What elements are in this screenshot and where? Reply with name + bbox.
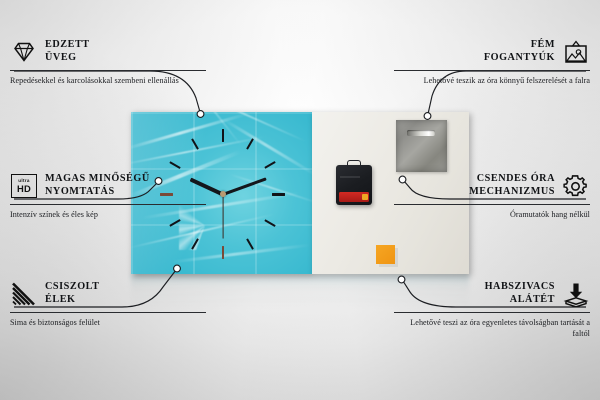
callout-header: ultra HD MAGAS MINŐSÉGŰ NYOMTATÁS (10, 172, 206, 200)
feather-streak (131, 112, 249, 151)
infographic-canvas: EDZETT ÜVEG Repedésekkel és karcolásokka… (0, 0, 600, 400)
callout-title: CSISZOLT ÉLEK (45, 281, 99, 307)
clock-marker (222, 246, 224, 259)
hanger-slot (407, 130, 435, 136)
gear-icon (562, 172, 590, 200)
callout-divider (10, 312, 206, 313)
callout-header: CSISZOLT ÉLEK (10, 280, 206, 308)
diagonal-stripes-icon (10, 280, 38, 308)
callout-divider (394, 204, 590, 205)
clock-marker (272, 193, 285, 196)
callout-description: Intenzív színek és éles kép (10, 209, 206, 220)
callout-title-line: ALÁTÉT (510, 294, 555, 305)
clock-marker (222, 129, 224, 142)
callout-title: CSENDES ÓRA MECHANIZMUS (469, 173, 555, 199)
callout-title-line: CSENDES ÓRA (477, 173, 555, 184)
clock-marker (264, 161, 275, 169)
callout-title-line: MECHANIZMUS (469, 186, 555, 197)
callout-foam-pad[interactable]: HABSZIVACS ALÁTÉT Lehetővé teszi az óra … (394, 280, 590, 340)
clock-marker (191, 238, 199, 249)
callout-title-line: FÉM (531, 39, 555, 50)
callout-metal-handles[interactable]: FÉM FOGANTYÚK Lehetővé teszik az óra kön… (394, 38, 590, 86)
feather-streak (222, 118, 312, 177)
ultra-hd-icon: ultra HD (10, 172, 38, 200)
picture-hanger-icon (562, 38, 590, 66)
feather-streak (131, 136, 266, 167)
clock-marker (169, 161, 180, 169)
clock-center-hub (220, 191, 226, 197)
callout-high-quality-print[interactable]: ultra HD MAGAS MINŐSÉGŰ NYOMTATÁS Intenz… (10, 172, 206, 220)
callout-description: Óramutatók hang nélkül (394, 209, 590, 220)
callout-title-line: MAGAS MINŐSÉGŰ (45, 173, 150, 184)
foam-pad (376, 245, 395, 264)
callout-header: EDZETT ÜVEG (10, 38, 206, 66)
callout-title-line: ÉLEK (45, 294, 76, 305)
clock-marker (191, 138, 199, 149)
clock-second-hand (222, 195, 223, 239)
callout-title-line: FOGANTYÚK (484, 52, 555, 63)
diamond-icon (10, 38, 38, 66)
callout-description: Sima és biztonságos felület (10, 317, 206, 328)
callout-tempered-glass[interactable]: EDZETT ÜVEG Repedésekkel és karcolásokka… (10, 38, 206, 86)
callout-divider (394, 312, 590, 313)
clock-minute-hand (222, 177, 266, 196)
clock-marker (264, 219, 275, 227)
callout-title: FÉM FOGANTYÚK (484, 39, 555, 65)
mechanism-ridge (340, 176, 360, 178)
callout-header: HABSZIVACS ALÁTÉT (394, 280, 590, 308)
callout-divider (10, 70, 206, 71)
callout-polished-edges[interactable]: CSISZOLT ÉLEK Sima és biztonságos felüle… (10, 280, 206, 328)
callout-divider (10, 204, 206, 205)
callout-title-line: HABSZIVACS (485, 281, 555, 292)
callout-title-line: NYOMTATÁS (45, 186, 115, 197)
callout-description: Lehetővé teszi az óra egyenletes távolsá… (394, 317, 590, 340)
ultra-hd-badge: ultra HD (11, 174, 37, 198)
callout-title-line: CSISZOLT (45, 281, 99, 292)
clock-marker (246, 238, 254, 249)
battery (339, 192, 369, 202)
callout-title: EDZETT ÜVEG (45, 39, 90, 65)
callout-description: Lehetővé teszik az óra könnyű felszerelé… (394, 75, 590, 86)
callout-header: CSENDES ÓRA MECHANIZMUS (394, 172, 590, 200)
callout-title: MAGAS MINŐSÉGŰ NYOMTATÁS (45, 173, 150, 199)
callout-description: Repedésekkel és karcolásokkal szembeni e… (10, 75, 206, 86)
callout-title-line: EDZETT (45, 39, 90, 50)
callout-title-line: ÜVEG (45, 52, 77, 63)
callout-header: FÉM FOGANTYÚK (394, 38, 590, 66)
arrow-onto-stack-icon (562, 280, 590, 308)
feather-streak (179, 112, 242, 147)
clock-mechanism (336, 165, 372, 205)
callout-title: HABSZIVACS ALÁTÉT (485, 281, 555, 307)
mechanism-hook (347, 160, 361, 167)
ultra-hd-bottom-text: HD (17, 184, 31, 193)
callout-divider (394, 70, 590, 71)
callout-silent-mechanism[interactable]: CSENDES ÓRA MECHANIZMUS Óramutatók hang … (394, 172, 590, 220)
metal-hanger (396, 120, 447, 172)
clock-marker (246, 138, 254, 149)
